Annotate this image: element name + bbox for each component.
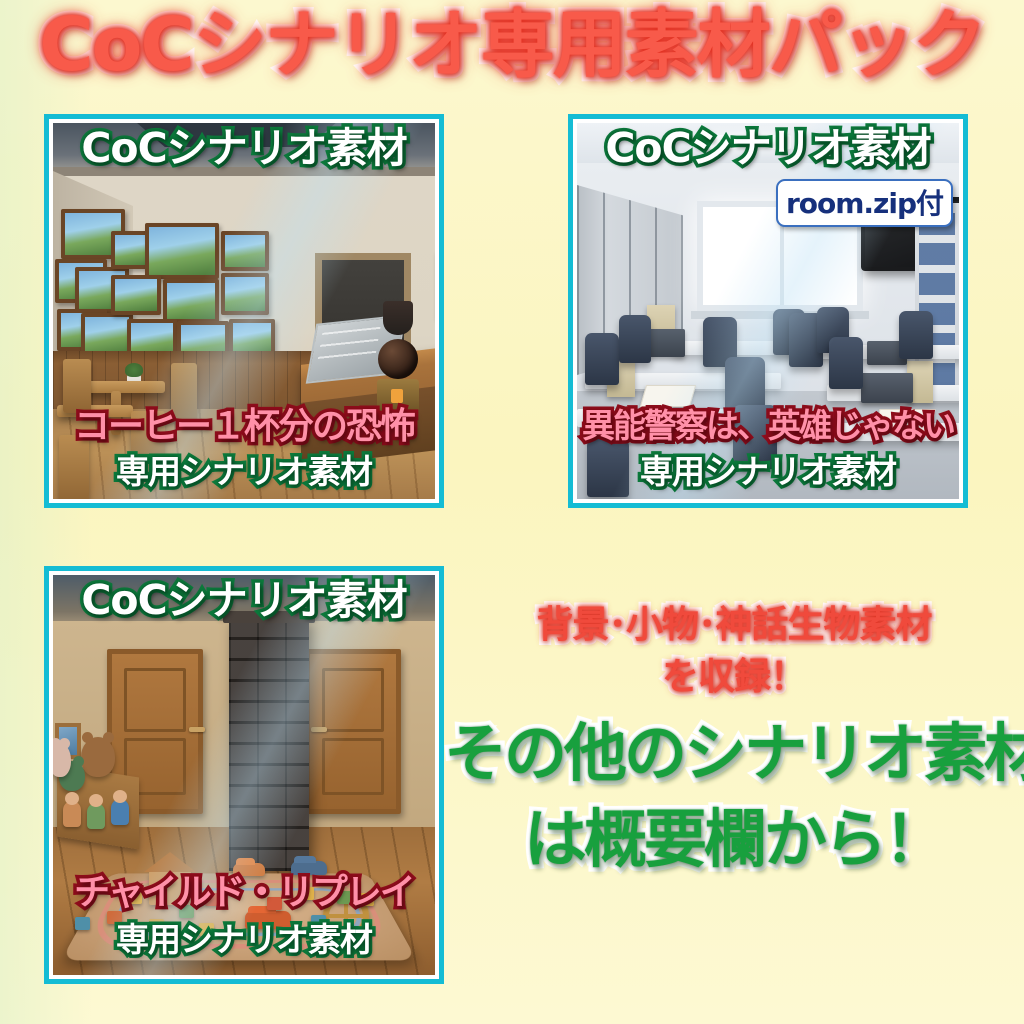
poster-root: CoCシナリオ専用素材パック — [0, 0, 1024, 1024]
scenario-card-office[interactable]: CoCシナリオ素材 room.zip付 異能警察は、英雄じゃない 専用シナリオ素… — [568, 114, 968, 508]
card-header-child: CoCシナリオ素材 — [53, 579, 435, 622]
card-title-office: 異能警察は、英雄じゃない — [577, 409, 959, 442]
zip-badge: room.zip付 — [776, 179, 953, 227]
card-image-cafe: CoCシナリオ素材 コーヒー１杯分の恐怖 専用シナリオ素材 — [53, 123, 435, 499]
promo-red-line-1: 背景･小物･神話生物素材 — [444, 606, 1024, 643]
card-title-child: チャイルド・リプレイ — [53, 875, 435, 911]
promo-green-line-1: その他のシナリオ素材 — [444, 722, 1024, 785]
card-image-office: CoCシナリオ素材 room.zip付 異能警察は、英雄じゃない 専用シナリオ素… — [577, 123, 959, 499]
promo-text-block: 背景･小物･神話生物素材 を収録！ その他のシナリオ素材 は概要欄から！ — [444, 600, 1024, 900]
card-subtitle-office: 専用シナリオ素材 — [577, 455, 959, 488]
scenario-card-cafe[interactable]: CoCシナリオ素材 コーヒー１杯分の恐怖 専用シナリオ素材 — [44, 114, 444, 508]
card-header-cafe: CoCシナリオ素材 — [53, 127, 435, 170]
promo-green-line-2: は概要欄から！ — [444, 808, 1024, 871]
page-title: CoCシナリオ専用素材パック — [0, 8, 1024, 82]
card-header-office: CoCシナリオ素材 — [577, 127, 959, 170]
child-room-scene-illustration — [53, 575, 435, 975]
card-image-child: CoCシナリオ素材 チャイルド・リプレイ 専用シナリオ素材 — [53, 575, 435, 975]
scenario-card-child[interactable]: CoCシナリオ素材 チャイルド・リプレイ 専用シナリオ素材 — [44, 566, 444, 984]
card-title-cafe: コーヒー１杯分の恐怖 — [53, 409, 435, 445]
card-subtitle-child: 専用シナリオ素材 — [53, 923, 435, 956]
promo-red-line-2: を収録！ — [444, 658, 1024, 695]
card-subtitle-cafe: 専用シナリオ素材 — [53, 455, 435, 488]
